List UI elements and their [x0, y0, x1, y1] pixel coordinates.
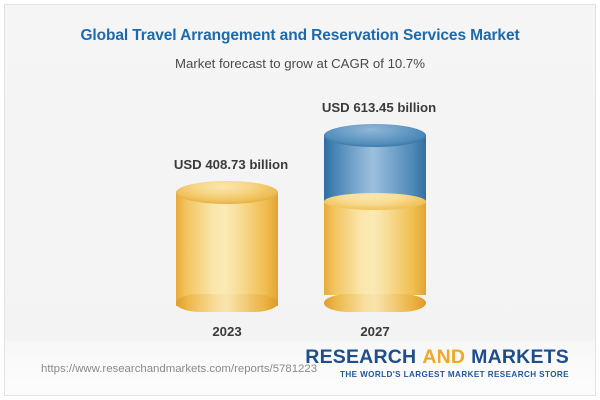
bar-category-label-2027: 2027	[324, 324, 426, 339]
cylinder-top-2023	[176, 181, 278, 204]
cylinder-top-2027	[324, 124, 426, 147]
source-url[interactable]: https://www.researchandmarkets.com/repor…	[41, 363, 317, 375]
cylinder-bar-2027[interactable]	[324, 124, 426, 312]
logo-wordmark: RESEARCHANDMARKETS	[305, 348, 569, 368]
bar-segment-base-2023	[176, 192, 278, 306]
bar-value-label-2027: USD 613.45 billion	[299, 100, 459, 115]
research-and-markets-logo[interactable]: RESEARCHANDMARKETS THE WORLD'S LARGEST M…	[305, 348, 569, 379]
bar-chart-plot-area: USD 408.73 billion 2023 USD 613.45 billi…	[5, 5, 596, 396]
cylinder-bottom-2027	[324, 294, 426, 312]
logo-word-markets: MARKETS	[471, 346, 569, 368]
logo-word-and: AND	[422, 346, 465, 368]
logo-tagline: THE WORLD'S LARGEST MARKET RESEARCH STOR…	[305, 371, 569, 379]
cylinder-bar-2023[interactable]	[176, 181, 278, 312]
bar-category-label-2023: 2023	[176, 324, 278, 339]
bar-segment-base-2027	[324, 201, 426, 295]
bar-value-label-2023: USD 408.73 billion	[151, 157, 311, 172]
logo-word-research: RESEARCH	[305, 346, 416, 368]
chart-card: Global Travel Arrangement and Reservatio…	[4, 4, 596, 396]
cylinder-bottom-2023	[176, 294, 278, 312]
cylinder-segment-seam-2027	[324, 193, 426, 210]
